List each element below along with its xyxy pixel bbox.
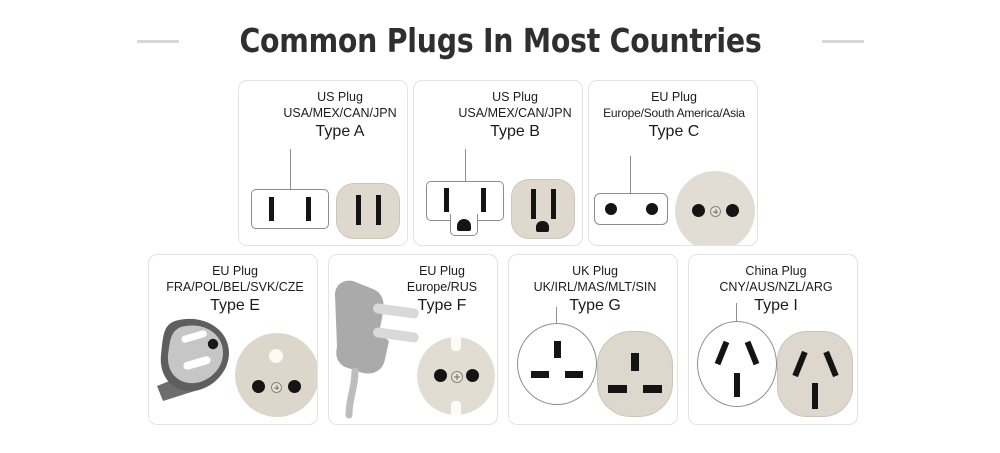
plug-card-type-f[interactable]: EU Plug Europe/RUS Type F	[328, 254, 498, 425]
plug-row-1: US Plug USA/MEX/CAN/JPN Type A US Plug U…	[238, 80, 758, 246]
title-dash-right	[822, 40, 864, 43]
plug-card-type-e[interactable]: EU Plug FRA/POL/BEL/SVK/CZE Type E	[148, 254, 318, 425]
page-title: Common Plugs In Most Countries	[239, 23, 761, 59]
plug-card-type-i[interactable]: China Plug CNY/AUS/NZL/ARG Type I	[688, 254, 858, 425]
plug-card-type-c[interactable]: EU Plug Europe/South America/Asia Type C	[588, 80, 758, 246]
plug-row-2: EU Plug FRA/POL/BEL/SVK/CZE Type E EU P	[148, 254, 858, 425]
plug-card-type-a[interactable]: US Plug USA/MEX/CAN/JPN Type A	[238, 80, 408, 246]
us-socket-a-icon	[239, 81, 407, 245]
eu-socket-e-icon	[149, 255, 317, 424]
china-socket-i-icon	[689, 255, 857, 424]
eu-socket-c-icon	[589, 81, 757, 245]
title-dash-left	[137, 40, 179, 43]
plug-card-type-b[interactable]: US Plug USA/MEX/CAN/JPN Type B	[413, 80, 583, 246]
eu-socket-f-icon	[329, 255, 497, 424]
us-socket-b-icon	[414, 81, 582, 245]
page-header: Common Plugs In Most Countries	[0, 18, 1000, 64]
plug-card-type-g[interactable]: UK Plug UK/IRL/MAS/MLT/SIN Type G	[508, 254, 678, 425]
uk-socket-g-icon	[509, 255, 677, 424]
